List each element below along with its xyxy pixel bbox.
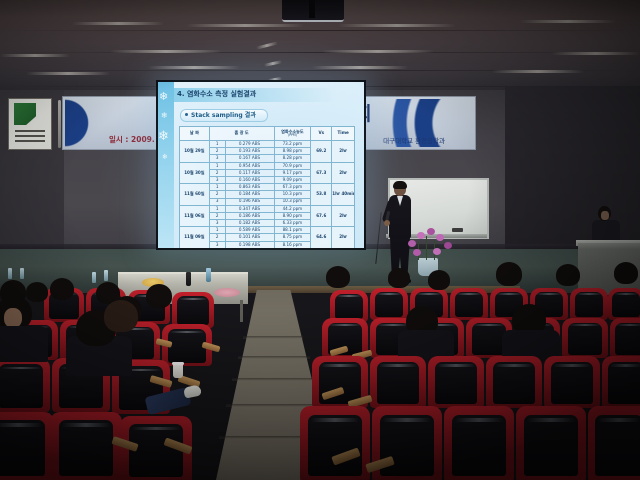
ceiling-projector-icon (282, 0, 344, 22)
cell-conc: 8.28 ppm (274, 155, 311, 162)
bottle-icon (206, 268, 211, 282)
cell-abs: 0.160 ABS (225, 176, 274, 183)
cell-vs: 53.8 (311, 184, 332, 206)
cell-conc: 9.09 ppm (274, 176, 311, 183)
results-table-body: 10월 29일10.279 ABS73.2 ppm69.22hr20.193 A… (180, 141, 355, 249)
bullet-dot-icon (185, 113, 188, 116)
attendee-head (50, 278, 74, 300)
cell-abs: 0.167 ABS (225, 155, 274, 162)
cell-date: 10월 29일 (180, 141, 210, 163)
cell-no: 1 (209, 184, 225, 191)
cell-no: 3 (209, 241, 225, 248)
seat[interactable] (544, 356, 600, 408)
snowflake-icon: ❄ (158, 130, 169, 143)
cell-conc: 6.33 ppm (274, 220, 311, 227)
coffee-cup (173, 364, 183, 378)
th-vs: Vs (311, 127, 332, 141)
cell-no: 2 (209, 148, 225, 155)
attendee-head (146, 284, 172, 308)
slide-side-band (158, 82, 174, 248)
cell-conc: 67.3 ppm (274, 184, 311, 191)
attendee-head (388, 268, 410, 288)
cell-vs: 67.3 (311, 162, 332, 184)
cell-abs: 0.117 ABS (225, 169, 274, 176)
cell-time: 1hr 40min (332, 184, 355, 206)
cell-no: 3 (209, 176, 225, 183)
snowflake-icon: ❄ (161, 112, 168, 120)
attendee-head (104, 300, 138, 332)
seat[interactable] (50, 412, 122, 480)
projection-screen: ❄ ❄ ❄ ❄ 4. 염화수소 측정 실험결과 Stack sampling 결… (156, 80, 366, 250)
bottle-icon (186, 272, 191, 286)
th-conc: 염화수소농도 (PPM) (274, 127, 311, 141)
cell-no: 3 (209, 220, 225, 227)
attendee-head (26, 282, 48, 302)
cell-conc: 9.17 ppm (274, 169, 311, 176)
cell-conc: 8.90 ppm (274, 212, 311, 219)
bottle-icon (92, 272, 96, 283)
cell-no: 1 (209, 205, 225, 212)
cell-conc: 10.3 ppm (274, 198, 311, 205)
bottle-icon (20, 268, 24, 279)
seat[interactable] (608, 288, 640, 320)
th-time: Time (332, 127, 355, 141)
cell-abs: 0.186 ABS (225, 212, 274, 219)
table-row: 10월 30일10.954 ABS70.9 ppm67.32hr (180, 162, 355, 169)
wall-poster (8, 98, 52, 150)
attendee-shoe (183, 384, 202, 398)
orchid-arrangement (400, 228, 458, 276)
attendee-head (496, 262, 522, 286)
attendee-head (556, 264, 580, 286)
cell-vs: 67.6 (311, 205, 332, 227)
seat[interactable] (444, 406, 514, 480)
cell-abs: 0.101 ABS (225, 234, 274, 241)
table-row: 10월 29일10.279 ABS73.2 ppm69.22hr (180, 141, 355, 148)
seat[interactable] (516, 406, 586, 480)
attendee-head (326, 266, 350, 288)
cell-conc: 10.3 ppm (274, 191, 311, 198)
results-table: 날 짜 흡 광 도 염화수소농도 (PPM) Vs Time 10월 29일10… (179, 126, 355, 248)
cell-no: 2 (209, 234, 225, 241)
cell-abs: 0.589 ABS (225, 227, 274, 234)
cell-abs: 0.198 ABS (225, 241, 274, 248)
cell-no: 3 (209, 155, 225, 162)
attendee-shoulders (0, 326, 48, 362)
snowflake-icon: ❄ (162, 154, 168, 161)
cell-abs: 0.193 ABS (225, 148, 274, 155)
cell-conc: 44.2 ppm (274, 205, 311, 212)
cell-abs: 0.279 ABS (225, 141, 274, 148)
cell-no: 3 (209, 198, 225, 205)
cell-abs: 0.184 ABS (225, 191, 274, 198)
wall-light-tube-icon (58, 100, 61, 148)
table-cloth-accent (214, 288, 240, 297)
cell-no: 1 (209, 141, 225, 148)
slide-title: 4. 염화수소 측정 실험결과 (177, 89, 256, 99)
cell-conc: 70.9 ppm (274, 162, 311, 169)
cell-conc: 8.98 ppm (274, 148, 311, 155)
th-no: 흡 광 도 (209, 127, 274, 141)
bottle-icon (8, 268, 12, 279)
cell-time: 2hr (332, 227, 355, 248)
seat[interactable] (300, 406, 370, 480)
cell-no: 1 (209, 162, 225, 169)
cell-no: 2 (209, 191, 225, 198)
banner-organization: 대구대학교 환경공학과 (383, 135, 445, 145)
cell-no: 2 (209, 212, 225, 219)
cell-conc: 8.75 ppm (274, 234, 311, 241)
cell-no: 1 (209, 227, 225, 234)
table-header-row: 날 짜 흡 광 도 염화수소농도 (PPM) Vs Time (180, 127, 355, 141)
cell-time: 2hr (332, 141, 355, 163)
cell-abs: 0.347 ABS (225, 205, 274, 212)
attendee-head (428, 270, 450, 290)
cell-no: 2 (209, 169, 225, 176)
seat[interactable] (486, 356, 542, 408)
seat[interactable] (428, 356, 484, 408)
slide-bullet-text: Stack sampling 결과 (191, 110, 256, 119)
seat[interactable] (172, 292, 214, 328)
cell-abs: 0.954 ABS (225, 162, 274, 169)
cell-time: 2hr (332, 205, 355, 227)
table-row: 11월 06일10.347 ABS44.2 ppm67.62hr (180, 205, 355, 212)
presentation-slide: ❄ ❄ ❄ ❄ 4. 염화수소 측정 실험결과 Stack sampling 결… (158, 82, 364, 248)
seat[interactable] (370, 356, 426, 408)
cell-date: 11월 06일 (180, 205, 210, 227)
table-row: 11월 60일10.863 ABS67.3 ppm53.81hr 40min (180, 184, 355, 191)
cell-conc: 8.16 ppm (274, 241, 311, 248)
attendee-head (614, 262, 638, 284)
bottle-icon (104, 270, 108, 281)
cell-abs: 0.182 ABS (225, 220, 274, 227)
seat[interactable] (0, 412, 54, 480)
seat[interactable] (570, 288, 608, 320)
cell-time: 2hr (332, 162, 355, 184)
cell-abs: 0.863 ABS (225, 184, 274, 191)
auditorium-scene: 대구대학교 학술발표회 대구대학교 발표회 일시 : 2009. 11. 20 … (0, 0, 640, 480)
th-date: 날 짜 (180, 127, 210, 141)
cell-date: 10월 30일 (180, 162, 210, 184)
cell-vs: 69.2 (311, 141, 332, 163)
cell-abs: 0.196 ABS (225, 198, 274, 205)
seat[interactable] (610, 318, 640, 358)
seat[interactable] (450, 288, 488, 320)
table-row: 11월 09일10.589 ABS88.1 ppm64.62hr (180, 227, 355, 234)
cell-date: 11월 09일 (180, 227, 210, 248)
seat[interactable] (372, 406, 442, 480)
seat[interactable] (562, 318, 608, 358)
seat[interactable] (602, 356, 640, 408)
seat[interactable] (588, 406, 640, 480)
snowflake-icon: ❄ (159, 91, 168, 102)
cell-vs: 64.6 (311, 227, 332, 248)
cell-date: 11월 60일 (180, 184, 210, 206)
attendee-face (4, 308, 22, 328)
cell-conc: 73.2 ppm (274, 141, 311, 148)
seat[interactable] (0, 358, 50, 412)
cell-conc: 88.1 ppm (274, 227, 311, 234)
seat[interactable] (370, 288, 408, 320)
